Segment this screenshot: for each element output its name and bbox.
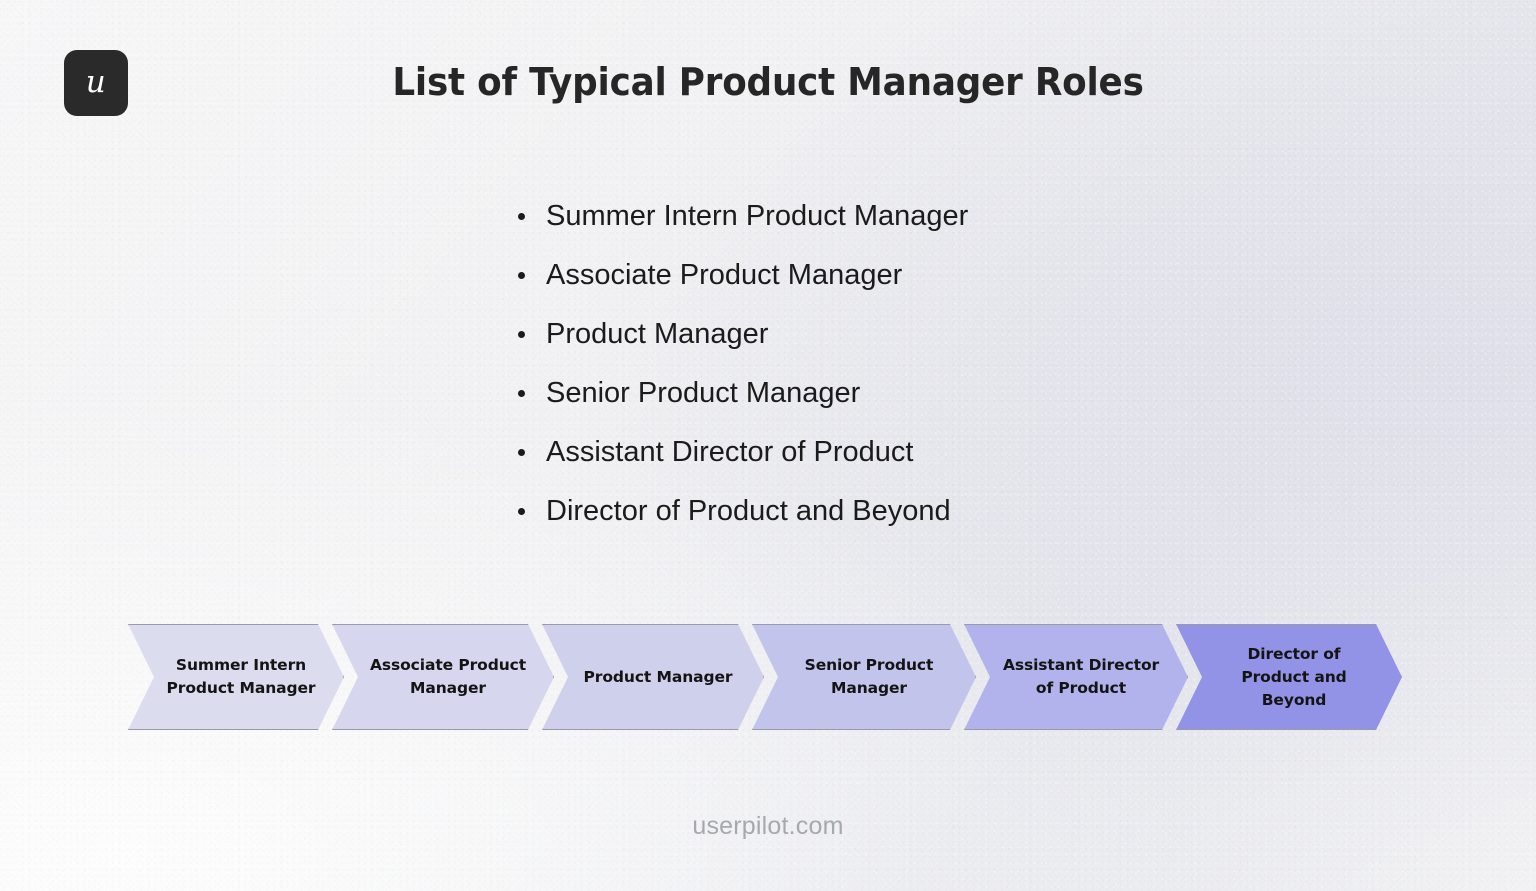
chevron-step-5[interactable]: Assistant Director of Product — [964, 624, 1188, 730]
list-item: Product Manager — [516, 314, 968, 373]
list-item: Associate Product Manager — [516, 255, 968, 314]
chevron-step-6[interactable]: Director of Product and Beyond — [1176, 624, 1402, 730]
bullet-dot-icon — [518, 390, 525, 397]
list-item-label: Product Manager — [546, 318, 768, 350]
list-item-label: Associate Product Manager — [546, 259, 902, 291]
chevron-step-2[interactable]: Associate Product Manager — [332, 624, 554, 730]
chevron-step-1[interactable]: Summer Intern Product Manager — [128, 624, 344, 730]
bullet-dot-icon — [518, 449, 525, 456]
list-item-label: Director of Product and Beyond — [546, 495, 951, 527]
career-progression-chevrons: Summer Intern Product Manager Associate … — [128, 624, 1390, 730]
list-item: Director of Product and Beyond — [516, 491, 968, 550]
page-title: List of Typical Product Manager Roles — [46, 60, 1490, 104]
bullet-dot-icon — [518, 331, 525, 338]
chevron-step-label: Senior Product Manager — [789, 654, 949, 700]
roles-bullet-list: Summer Intern Product Manager Associate … — [516, 196, 968, 550]
chevron-step-label: Summer Intern Product Manager — [165, 654, 317, 700]
chevron-step-3[interactable]: Product Manager — [542, 624, 764, 730]
bullet-dot-icon — [518, 508, 525, 515]
chevron-step-label: Director of Product and Beyond — [1213, 643, 1375, 712]
list-item-label: Assistant Director of Product — [546, 436, 913, 468]
chevron-step-label: Assistant Director of Product — [1001, 654, 1161, 700]
list-item-label: Senior Product Manager — [546, 377, 860, 409]
list-item: Assistant Director of Product — [516, 432, 968, 491]
bullet-dot-icon — [518, 272, 525, 279]
slide-canvas: u List of Typical Product Manager Roles … — [0, 0, 1536, 891]
chevron-step-4[interactable]: Senior Product Manager — [752, 624, 976, 730]
footer-watermark: userpilot.com — [0, 812, 1536, 841]
list-item: Summer Intern Product Manager — [516, 196, 968, 255]
chevron-step-label: Associate Product Manager — [369, 654, 527, 700]
bullet-dot-icon — [518, 213, 525, 220]
list-item-label: Summer Intern Product Manager — [546, 200, 968, 232]
list-item: Senior Product Manager — [516, 373, 968, 432]
chevron-step-label: Product Manager — [584, 666, 733, 689]
